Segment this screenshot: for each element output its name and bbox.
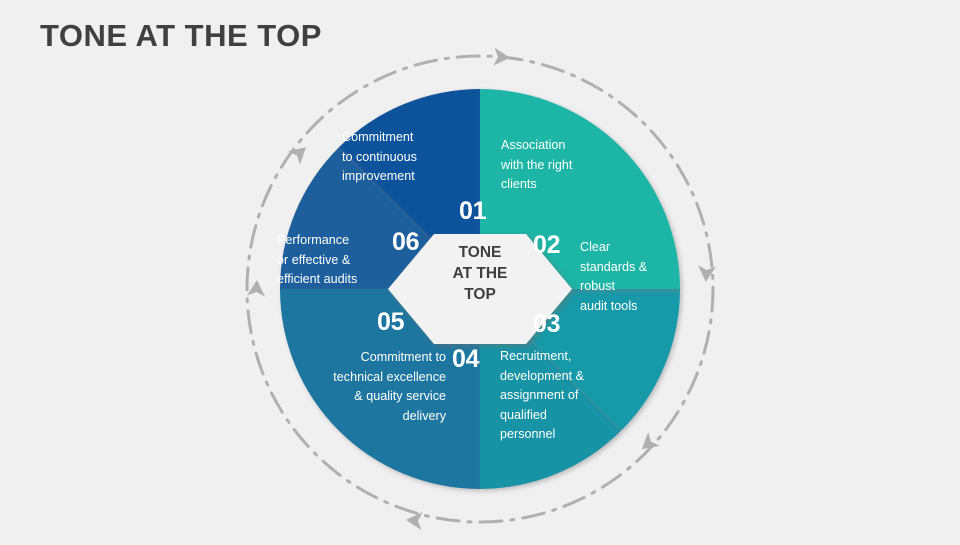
arrow-top-icon <box>493 48 510 67</box>
arrow-upper-left-icon <box>288 141 312 165</box>
cycle-diagram: TONE AT THE TOP 01 Association with the … <box>222 38 738 540</box>
segment-03-line-5: personnel <box>500 425 624 445</box>
segment-02-line-1: Clear <box>580 238 690 258</box>
segment-03-text: Recruitment, development & assignment of… <box>500 347 624 445</box>
segment-03-number: 03 <box>533 310 560 339</box>
segment-02-line-4: audit tools <box>580 297 690 317</box>
segment-05-text: Performance or effective & efficient aud… <box>277 231 402 290</box>
segment-06-text: Commitment to continuous improvement <box>342 128 487 187</box>
segment-01-line-3: clients <box>501 175 629 195</box>
segment-02-line-3: robust <box>580 277 690 297</box>
segment-04-text: Commitment to technical excellence & qua… <box>296 348 446 426</box>
segment-06-line-3: improvement <box>342 167 487 187</box>
segment-01-line-2: with the right <box>501 156 629 176</box>
segment-01-text: Association with the right clients <box>501 136 629 195</box>
segment-02-line-2: standards & <box>580 258 690 278</box>
segment-01-number: 01 <box>459 197 486 226</box>
segment-01-line-1: Association <box>501 136 629 156</box>
segment-04-line-3: & quality service <box>296 387 446 407</box>
segment-04-line-1: Commitment to <box>296 348 446 368</box>
segment-05-line-1: Performance <box>277 231 402 251</box>
segment-05-line-2: or effective & <box>277 251 402 271</box>
segment-02-number: 02 <box>533 231 560 260</box>
segment-04-line-2: technical excellence <box>296 368 446 388</box>
segment-03-line-3: assignment of <box>500 386 624 406</box>
center-label-line-1: TONE <box>425 243 535 264</box>
segment-03-line-4: qualified <box>500 406 624 426</box>
arrow-left-icon <box>247 279 266 296</box>
segment-03-line-1: Recruitment, <box>500 347 624 367</box>
segment-03-line-2: development & <box>500 367 624 387</box>
segment-05-line-3: efficient audits <box>277 270 402 290</box>
center-label-line-3: TOP <box>425 285 535 306</box>
slide-canvas: TONE AT THE TOP <box>0 0 960 540</box>
segment-05-number: 05 <box>377 308 404 337</box>
center-label: TONE AT THE TOP <box>425 243 535 306</box>
center-label-line-2: AT THE <box>425 264 535 285</box>
segment-02-text: Clear standards & robust audit tools <box>580 238 690 316</box>
segment-06-line-1: Commitment <box>342 128 487 148</box>
segment-06-number: 06 <box>392 228 419 257</box>
segment-04-number: 04 <box>452 345 479 374</box>
segment-04-line-4: delivery <box>296 407 446 427</box>
segment-06-line-2: to continuous <box>342 148 487 168</box>
